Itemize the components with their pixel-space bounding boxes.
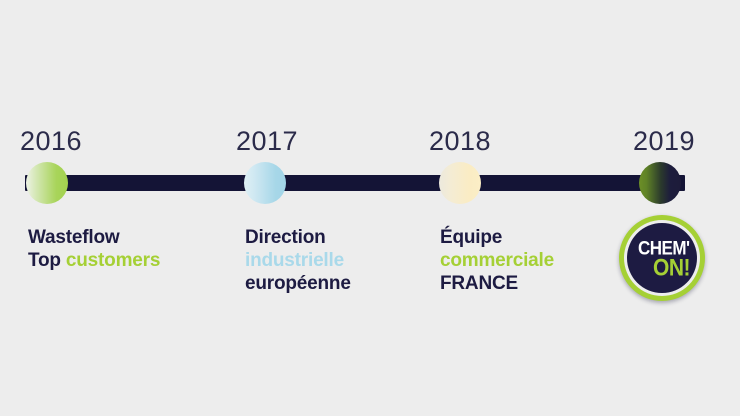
caption-2016-line-2: Top customers [28,250,160,273]
milestone-caption-2018: Équipe commerciale FRANCE [440,227,554,295]
timeline-node-2016 [26,162,68,204]
chem-on-logo: CHEM' ON! [619,215,705,301]
caption-2018-line-2: commerciale [440,250,554,273]
year-label-2017: 2017 [236,128,298,155]
caption-2016-line-1: Wasteflow [28,227,160,250]
caption-2017-line-1: Direction [245,227,351,250]
year-label-2016: 2016 [20,128,82,155]
milestone-caption-2016: Wasteflow Top customers [28,227,160,273]
caption-2018-line-3: FRANCE [440,273,554,296]
milestone-caption-2017: Direction industrielle européenne [245,227,351,295]
logo-text-on: ON! [653,256,690,280]
caption-2016-line-2-prefix: Top [28,250,66,271]
timeline-axis-line [25,175,685,191]
timeline-node-2019 [639,162,681,204]
year-label-2019: 2019 [633,128,695,155]
year-label-2018: 2018 [429,128,491,155]
timeline-node-2018 [439,162,481,204]
caption-2017-line-2: industrielle [245,250,351,273]
caption-2018-line-1: Équipe [440,227,554,250]
caption-2017-line-3: européenne [245,273,351,296]
timeline-node-2017 [244,162,286,204]
timeline-diagram: 2016 2017 2018 2019 Wasteflow Top custom… [0,0,740,416]
caption-2016-line-2-highlight: customers [66,250,160,271]
logo-core-circle: CHEM' ON! [627,223,697,293]
